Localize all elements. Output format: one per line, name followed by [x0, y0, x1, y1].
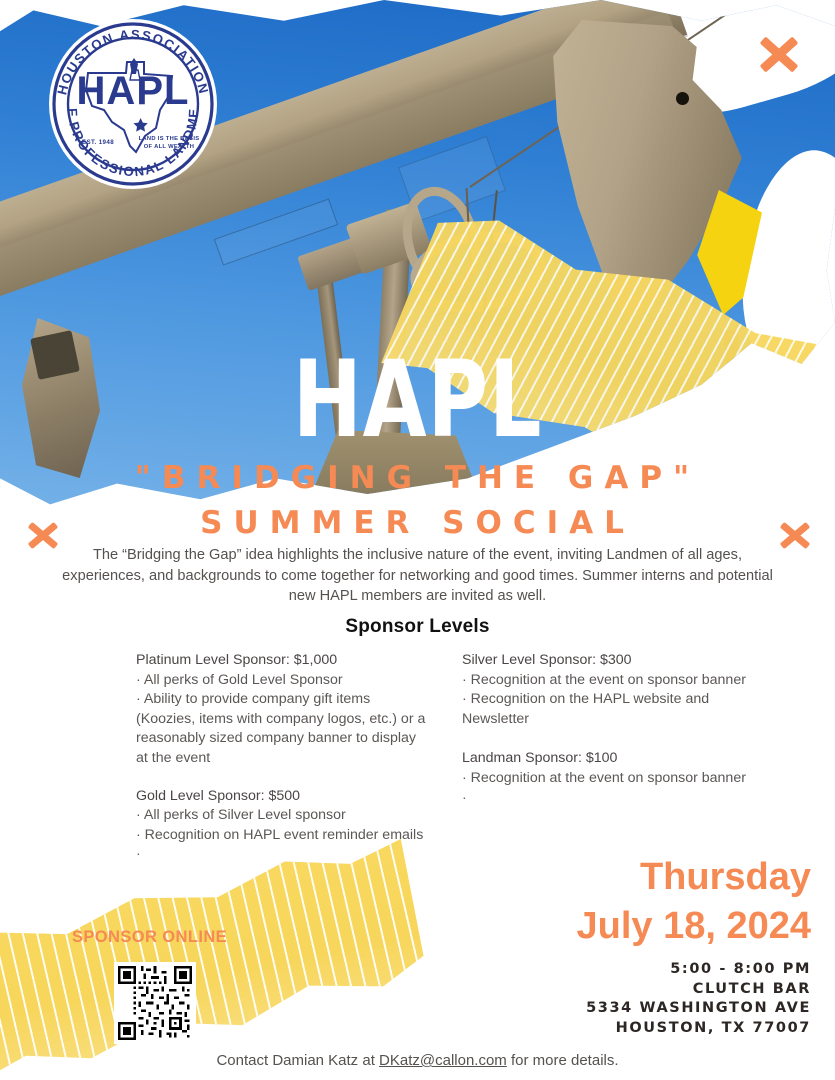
flyer-subtitle-summer-social: SUMMER SOCIAL: [0, 505, 835, 541]
event-description: The “Bridging the Gap” idea highlights t…: [62, 545, 773, 607]
sponsor-tier-title: Silver Level Sponsor: $300: [462, 651, 752, 671]
x-mark-icon-right: [778, 518, 812, 552]
venue-name: CLUTCH BAR: [586, 980, 811, 1000]
sponsor-column-right: Silver Level Sponsor: $300 · Recognition…: [462, 651, 752, 826]
svg-text:HAPL: HAPL: [77, 69, 190, 113]
flyer-subtitle-bridging-the-gap: "BRIDGING THE GAP": [0, 460, 835, 496]
sponsor-tier-platinum: Platinum Level Sponsor: $1,000 · All per…: [136, 651, 426, 769]
hapl-logo-seal-icon: HOUSTON ASSOCIATION OF PROFESSIONAL LAND…: [48, 18, 218, 190]
sponsor-qr-code[interactable]: [114, 962, 196, 1044]
event-day: Thursday: [640, 856, 811, 899]
sponsor-perk: · Recognition on the HAPL website and Ne…: [462, 690, 752, 729]
sponsor-tier-title: Platinum Level Sponsor: $1,000: [136, 651, 426, 671]
sponsor-tier-landman: Landman Sponsor: $100 · Recognition at t…: [462, 749, 752, 808]
sponsor-trailing-bullet: ·: [462, 789, 752, 809]
footer-prefix: Contact Damian Katz at: [216, 1052, 379, 1069]
sponsor-online-label: SPONSOR ONLINE: [72, 928, 227, 947]
flyer-title-hapl: HAPL: [92, 350, 743, 450]
pumpjack-horsehead-bolt: [676, 92, 689, 105]
x-mark-icon-left: [26, 518, 60, 552]
contact-email-link[interactable]: DKatz@callon.com: [379, 1052, 507, 1069]
event-venue-block: 5:00 - 8:00 PM CLUTCH BAR 5334 WASHINGTO…: [586, 960, 811, 1038]
sponsor-perk: · All perks of Silver Level sponsor: [136, 806, 426, 826]
venue-city: HOUSTON, TX 77007: [586, 1019, 811, 1039]
sponsor-perk: · Ability to provide company gift items …: [136, 690, 426, 768]
sponsor-levels-heading: Sponsor Levels: [0, 616, 835, 638]
pumpjack-motor-icon: [30, 330, 80, 380]
x-mark-icon-top-right: [757, 32, 801, 76]
sponsor-perk: · Recognition at the event on sponsor ba…: [462, 671, 752, 691]
sponsor-perk: · All perks of Gold Level Sponsor: [136, 671, 426, 691]
sponsor-perk: · Recognition at the event on sponsor ba…: [462, 769, 752, 789]
sponsor-perk: · Recognition on HAPL event reminder ema…: [136, 826, 426, 846]
svg-text:EST. 1948: EST. 1948: [82, 139, 114, 146]
sponsor-tier-title: Gold Level Sponsor: $500: [136, 787, 426, 807]
event-time: 5:00 - 8:00 PM: [586, 960, 811, 980]
qr-code-icon[interactable]: [118, 966, 192, 1040]
sponsor-tier-title: Landman Sponsor: $100: [462, 749, 752, 769]
event-date: July 18, 2024: [576, 905, 811, 948]
sponsor-tier-silver: Silver Level Sponsor: $300 · Recognition…: [462, 651, 752, 729]
svg-text:OF ALL WEALTH: OF ALL WEALTH: [144, 144, 194, 150]
footer-suffix: for more details.: [507, 1052, 619, 1069]
hapl-logo: HOUSTON ASSOCIATION OF PROFESSIONAL LAND…: [48, 18, 218, 190]
svg-text:LAND IS THE BASIS: LAND IS THE BASIS: [139, 136, 200, 142]
footer-contact: Contact Damian Katz at DKatz@callon.com …: [0, 1052, 835, 1069]
event-flyer: HOUSTON ASSOCIATION OF PROFESSIONAL LAND…: [0, 0, 835, 1080]
venue-street: 5334 WASHINGTON AVE: [586, 999, 811, 1019]
